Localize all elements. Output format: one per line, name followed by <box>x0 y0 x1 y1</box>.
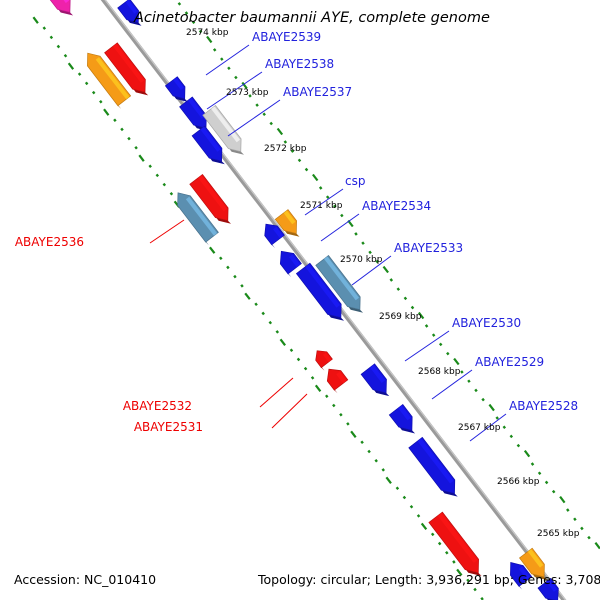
minor-tickmark <box>114 119 116 121</box>
minor-tickmark <box>171 193 173 195</box>
gene-label[interactable]: ABAYE2531 <box>134 420 203 434</box>
minor-tickmark <box>340 414 342 416</box>
minor-tickmark <box>405 297 407 299</box>
minor-tickmark <box>518 445 520 447</box>
minor-tickmark <box>362 242 364 244</box>
minor-tickmark <box>333 405 335 407</box>
minor-tickmark <box>270 123 272 125</box>
genome-stats-label: Topology: circular; Length: 3,936,291 bp… <box>257 572 600 587</box>
minor-tickmark <box>539 472 541 474</box>
minor-tickmark <box>375 460 377 462</box>
scale-tick-label: 2567 kbp <box>458 423 501 433</box>
minor-tickmark <box>447 353 449 355</box>
minor-tickmark <box>412 307 414 309</box>
minor-tickmark <box>255 303 257 305</box>
minor-tickmark <box>51 36 53 38</box>
scale-tick-label: 2569 kbp <box>379 312 422 322</box>
minor-tickmark <box>588 537 590 539</box>
minor-tickmark <box>285 141 287 143</box>
minor-tickmark <box>347 423 349 425</box>
minor-tickmark <box>298 358 300 360</box>
minor-tickmark <box>383 469 385 471</box>
gene-label[interactable]: csp <box>345 174 365 188</box>
gene-label[interactable]: ABAYE2538 <box>265 57 334 71</box>
minor-tickmark <box>327 196 329 198</box>
minor-tickmark <box>220 257 222 259</box>
minor-tickmark <box>361 441 363 443</box>
minor-tickmark <box>404 497 406 499</box>
minor-tickmark <box>100 101 102 103</box>
minor-tickmark <box>263 113 265 115</box>
minor-tickmark <box>44 27 46 29</box>
minor-tickmark <box>553 491 555 493</box>
minor-tickmark <box>135 147 137 149</box>
minor-tickmark <box>433 334 435 336</box>
minor-tickmark <box>86 82 88 84</box>
minor-tickmark <box>79 73 81 75</box>
minor-tickmark <box>397 487 399 489</box>
footer-bar: Accession: NC_010410 Topology: circular;… <box>0 560 600 600</box>
minor-tickmark <box>482 399 484 401</box>
scale-tick-label: 2571 kbp <box>300 201 343 211</box>
minor-tickmark <box>432 533 434 535</box>
minor-tickmark <box>312 377 314 379</box>
minor-tickmark <box>241 285 243 287</box>
scale-tick-label: 2572 kbp <box>264 144 307 154</box>
minor-tickmark <box>369 251 371 253</box>
gene-label[interactable]: ABAYE2532 <box>123 399 192 413</box>
minor-tickmark <box>574 518 576 520</box>
minor-tickmark <box>277 331 279 333</box>
minor-tickmark <box>426 325 428 327</box>
scale-tick-label: 2574 kbp <box>186 28 229 38</box>
gene-label[interactable]: ABAYE2528 <box>509 399 578 413</box>
minor-tickmark <box>546 481 548 483</box>
minor-tickmark <box>320 187 322 189</box>
minor-tickmark <box>58 46 60 48</box>
minor-tickmark <box>221 58 223 60</box>
minor-tickmark <box>511 435 513 437</box>
scale-tick-label: 2570 kbp <box>340 255 383 265</box>
minor-tickmark <box>128 138 130 140</box>
scale-tick-label: 2573 kbp <box>226 88 269 98</box>
minor-tickmark <box>581 527 583 529</box>
minor-tickmark <box>149 165 151 167</box>
minor-tickmark <box>567 509 569 511</box>
minor-tickmark <box>157 174 159 176</box>
minor-tickmark <box>475 389 477 391</box>
minor-tickmark <box>468 380 470 382</box>
minor-tickmark <box>532 463 534 465</box>
scale-tick-label: 2568 kbp <box>418 367 461 377</box>
minor-tickmark <box>270 322 272 324</box>
page-title: Acinetobacter baumannii AYE, complete ge… <box>133 10 490 26</box>
minor-tickmark <box>256 104 258 106</box>
minor-tickmark <box>439 543 441 545</box>
scale-tick-label: 2565 kbp <box>537 529 580 539</box>
gene-label[interactable]: ABAYE2537 <box>283 85 352 99</box>
minor-tickmark <box>305 368 307 370</box>
minor-tickmark <box>418 515 420 517</box>
minor-tickmark <box>235 77 237 79</box>
gene-label[interactable]: ABAYE2533 <box>394 241 463 255</box>
genome-map-viewer: 2574 kbp2573 kbp2572 kbp2571 kbp2570 kbp… <box>0 0 600 600</box>
minor-tickmark <box>504 426 506 428</box>
minor-tickmark <box>65 55 67 57</box>
minor-tickmark <box>262 312 264 314</box>
minor-tickmark <box>391 279 393 281</box>
minor-tickmark <box>398 288 400 290</box>
minor-tickmark <box>341 215 343 217</box>
minor-tickmark <box>179 3 181 5</box>
minor-tickmark <box>93 92 95 94</box>
genome-map-canvas[interactable]: 2574 kbp2573 kbp2572 kbp2571 kbp2570 kbp… <box>0 0 600 600</box>
gene-label[interactable]: ABAYE2539 <box>252 30 321 44</box>
minor-tickmark <box>227 266 229 268</box>
minor-tickmark <box>446 552 448 554</box>
minor-tickmark <box>214 49 216 51</box>
gene-label[interactable]: ABAYE2530 <box>452 316 521 330</box>
accession-label: Accession: NC_010410 <box>14 572 156 587</box>
minor-tickmark <box>291 349 293 351</box>
minor-tickmark <box>326 395 328 397</box>
minor-tickmark <box>496 417 498 419</box>
minor-tickmark <box>411 506 413 508</box>
minor-tickmark <box>368 451 370 453</box>
minor-tickmark <box>228 67 230 69</box>
minor-tickmark <box>164 184 166 186</box>
minor-tickmark <box>355 233 357 235</box>
scale-tick-label: 2566 kbp <box>497 477 540 487</box>
minor-tickmark <box>306 169 308 171</box>
gene-label[interactable]: ABAYE2536 <box>15 235 84 249</box>
minor-tickmark <box>299 159 301 161</box>
minor-tickmark <box>461 371 463 373</box>
minor-tickmark <box>121 128 123 130</box>
gene-label[interactable]: ABAYE2529 <box>475 355 544 369</box>
minor-tickmark <box>440 343 442 345</box>
minor-tickmark <box>234 276 236 278</box>
gene-label[interactable]: ABAYE2534 <box>362 199 431 213</box>
